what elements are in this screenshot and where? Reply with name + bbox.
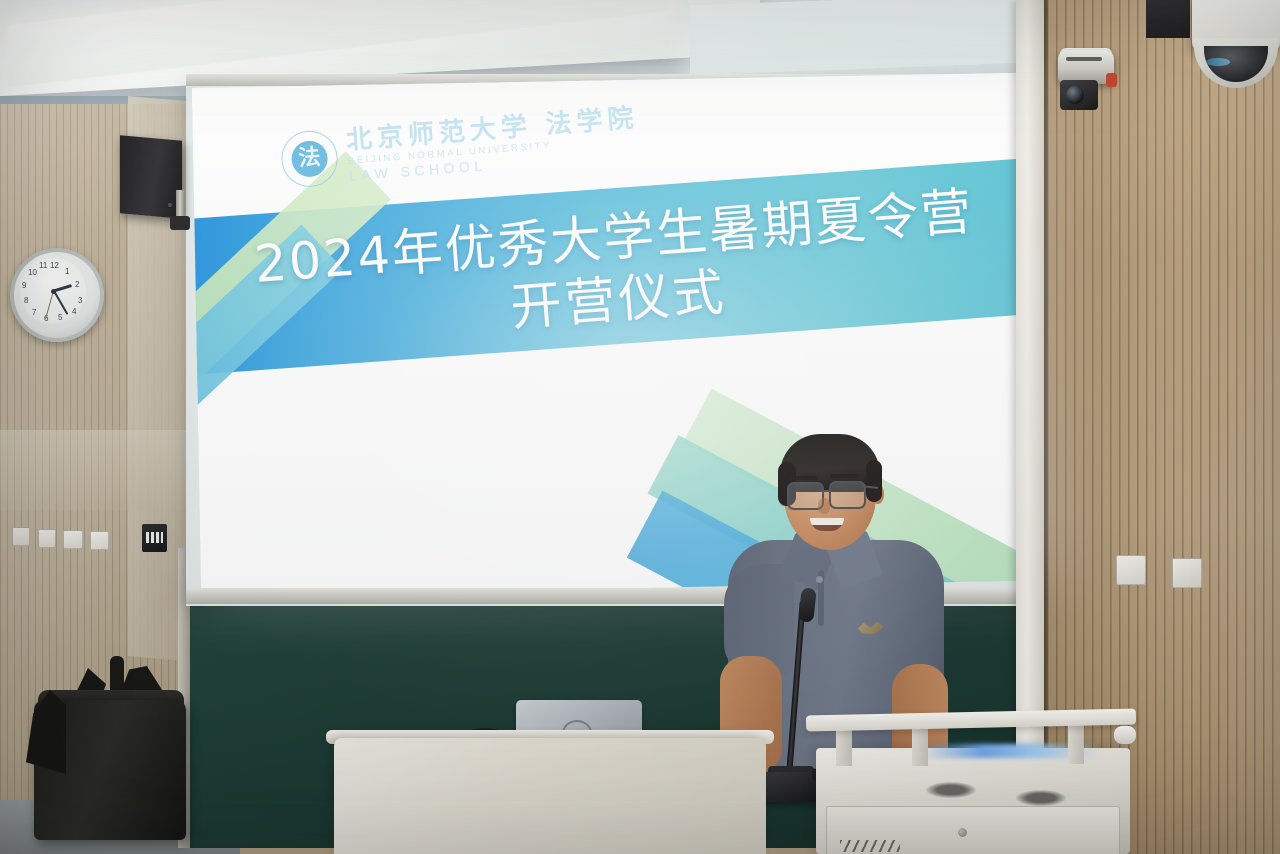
speaker-mount: [170, 216, 190, 230]
photo-scene: 法 北京师范大学 法学院 BEIJING NORMAL UNIVERSITY L…: [0, 0, 1280, 854]
cabinet-lock-icon[interactable]: [958, 828, 967, 837]
presenter-nose: [818, 498, 830, 514]
clock-numeral: 12: [50, 261, 59, 270]
dome-camera-ring: [1206, 58, 1230, 66]
clock-numeral: 1: [65, 267, 69, 276]
wall-plate-4[interactable]: [90, 531, 109, 550]
clock-numeral: 2: [75, 280, 79, 289]
eyeglasses-bridge: [820, 490, 829, 492]
clock-numeral: 9: [22, 281, 26, 290]
law-school-emblem-icon: 法: [280, 128, 340, 188]
speaker-led: [168, 203, 172, 207]
cabinet-speaker-grille-1: [926, 782, 976, 798]
wall-speaker-icon: [120, 135, 182, 218]
podium: [334, 738, 766, 854]
wall-plate-right-2[interactable]: [1172, 558, 1202, 588]
clock-numeral: 4: [72, 307, 76, 316]
clock-numeral: 8: [24, 296, 28, 305]
clock-numeral: 11: [39, 261, 47, 270]
wall-plate-3[interactable]: [63, 530, 83, 549]
cabinet-speaker-grille-2: [1016, 790, 1066, 806]
camera-lens-icon: [1066, 86, 1084, 104]
camera-red-marker: [1106, 73, 1117, 87]
clock-numeral: 5: [58, 313, 62, 322]
presenter-brow-right: [830, 474, 858, 478]
logo-glyph: 法: [291, 139, 330, 178]
light-switch-rockers[interactable]: [146, 532, 163, 543]
presenter-brow-left: [789, 476, 817, 480]
clock-numeral: 3: [78, 296, 82, 305]
cabinet-knob[interactable]: [1114, 726, 1136, 744]
clock-numeral: 7: [32, 308, 36, 317]
clock-numeral: 10: [28, 268, 37, 277]
camera-vent-slot: [1066, 57, 1102, 61]
wall-plate-2[interactable]: [38, 529, 56, 548]
presenter-button: [816, 576, 823, 583]
wall-plate-1[interactable]: [12, 527, 30, 546]
wall-plate-right-1[interactable]: [1116, 555, 1146, 585]
presenter-hair-right: [866, 460, 882, 502]
eyeglasses-lens-right: [829, 481, 866, 509]
cabinet-vent: [840, 840, 900, 852]
equipment-box: [1146, 0, 1190, 38]
clock-center-pin: [51, 289, 56, 294]
